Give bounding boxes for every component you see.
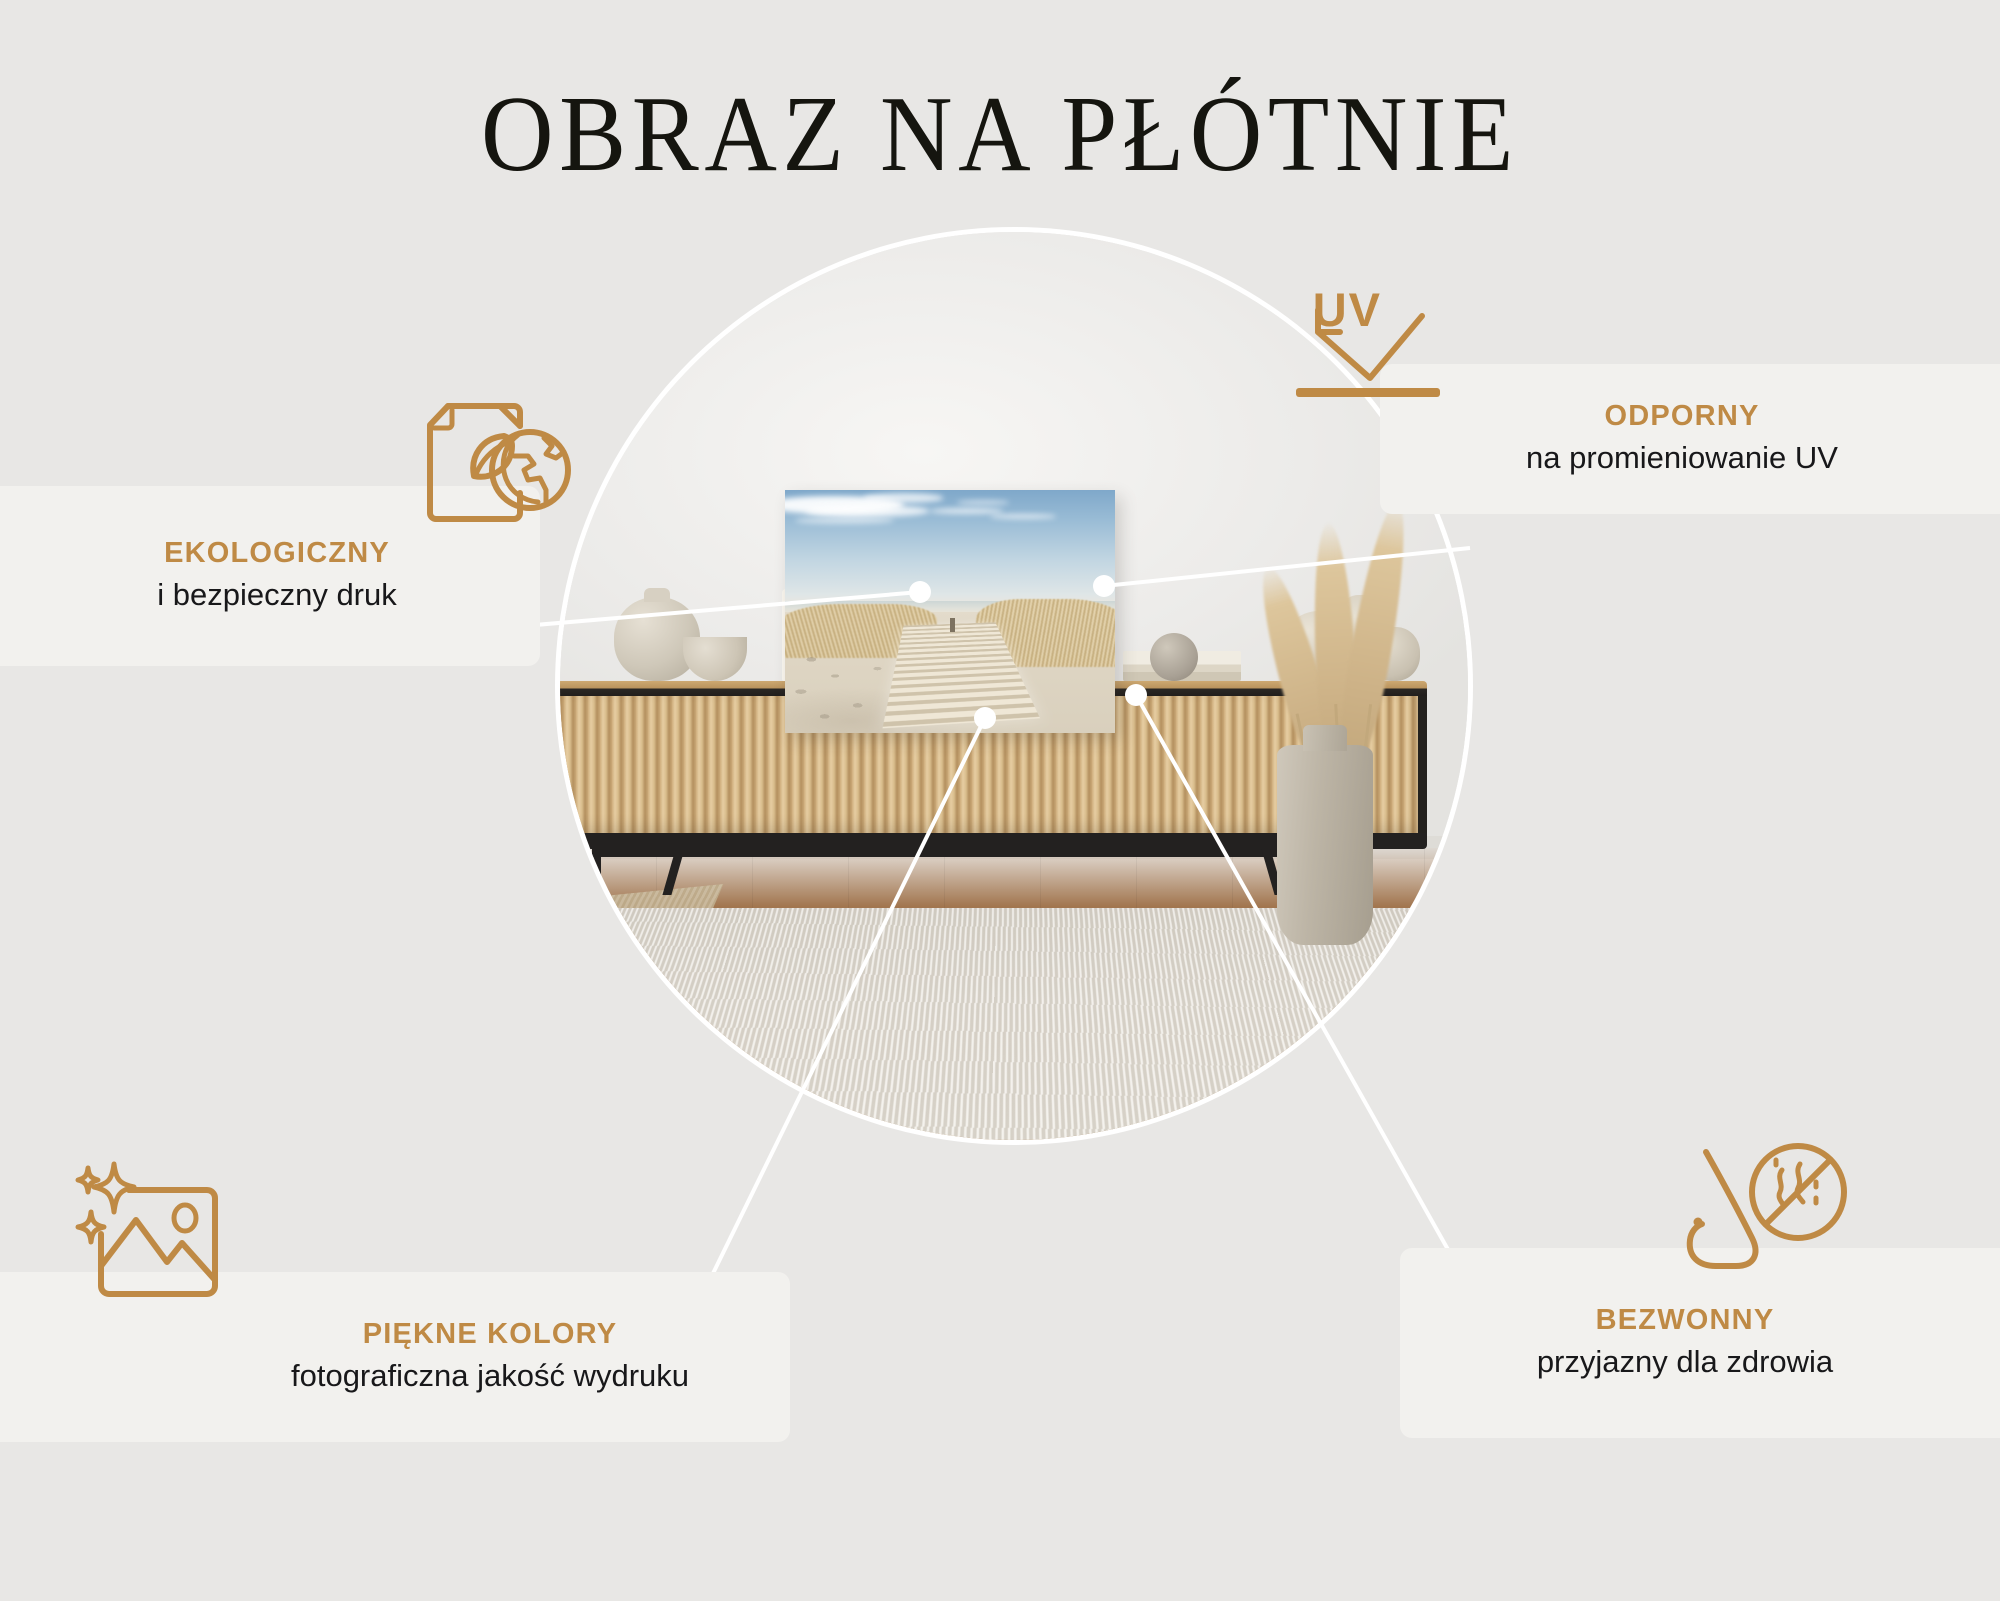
- artwork-sky: [785, 490, 1115, 604]
- sideboard-rail: [592, 849, 1355, 857]
- document-leaf-globe-icon: [418, 392, 583, 532]
- photo-sparkle-icon: [72, 1150, 242, 1310]
- uv-badge-label: UV: [1313, 282, 1382, 337]
- beach-boardwalk-canvas: [785, 490, 1115, 733]
- feature-subtitle-eco: i bezpieczny druk: [40, 576, 514, 615]
- infographic-root: OBRAZ NA PŁÓTNIE: [0, 0, 2000, 1601]
- feature-subtitle-odor: przyjazny dla zdrowia: [1430, 1343, 1940, 1382]
- nose-no-smell-icon: [1682, 1140, 1862, 1300]
- feature-subtitle-uv: na promieniowanie UV: [1410, 439, 1954, 478]
- artwork-post: [950, 618, 955, 632]
- tall-ceramic-vase: [1277, 745, 1373, 945]
- sideboard-leg: [592, 849, 601, 895]
- feature-title-uv: ODPORNY: [1410, 401, 1954, 433]
- feature-title-odor: BEZWONNY: [1430, 1305, 1940, 1337]
- feature-title-colors: PIĘKNE KOLORY: [220, 1319, 760, 1351]
- page-title: OBRAZ NA PŁÓTNIE: [70, 78, 1930, 191]
- feature-title-eco: EKOLOGICZNY: [40, 538, 514, 570]
- artwork-footprints: [785, 641, 917, 733]
- feature-subtitle-colors: fotograficzna jakość wydruku: [220, 1357, 760, 1396]
- feature-card-uv[interactable]: ODPORNY na promieniowanie UV: [1380, 364, 2000, 514]
